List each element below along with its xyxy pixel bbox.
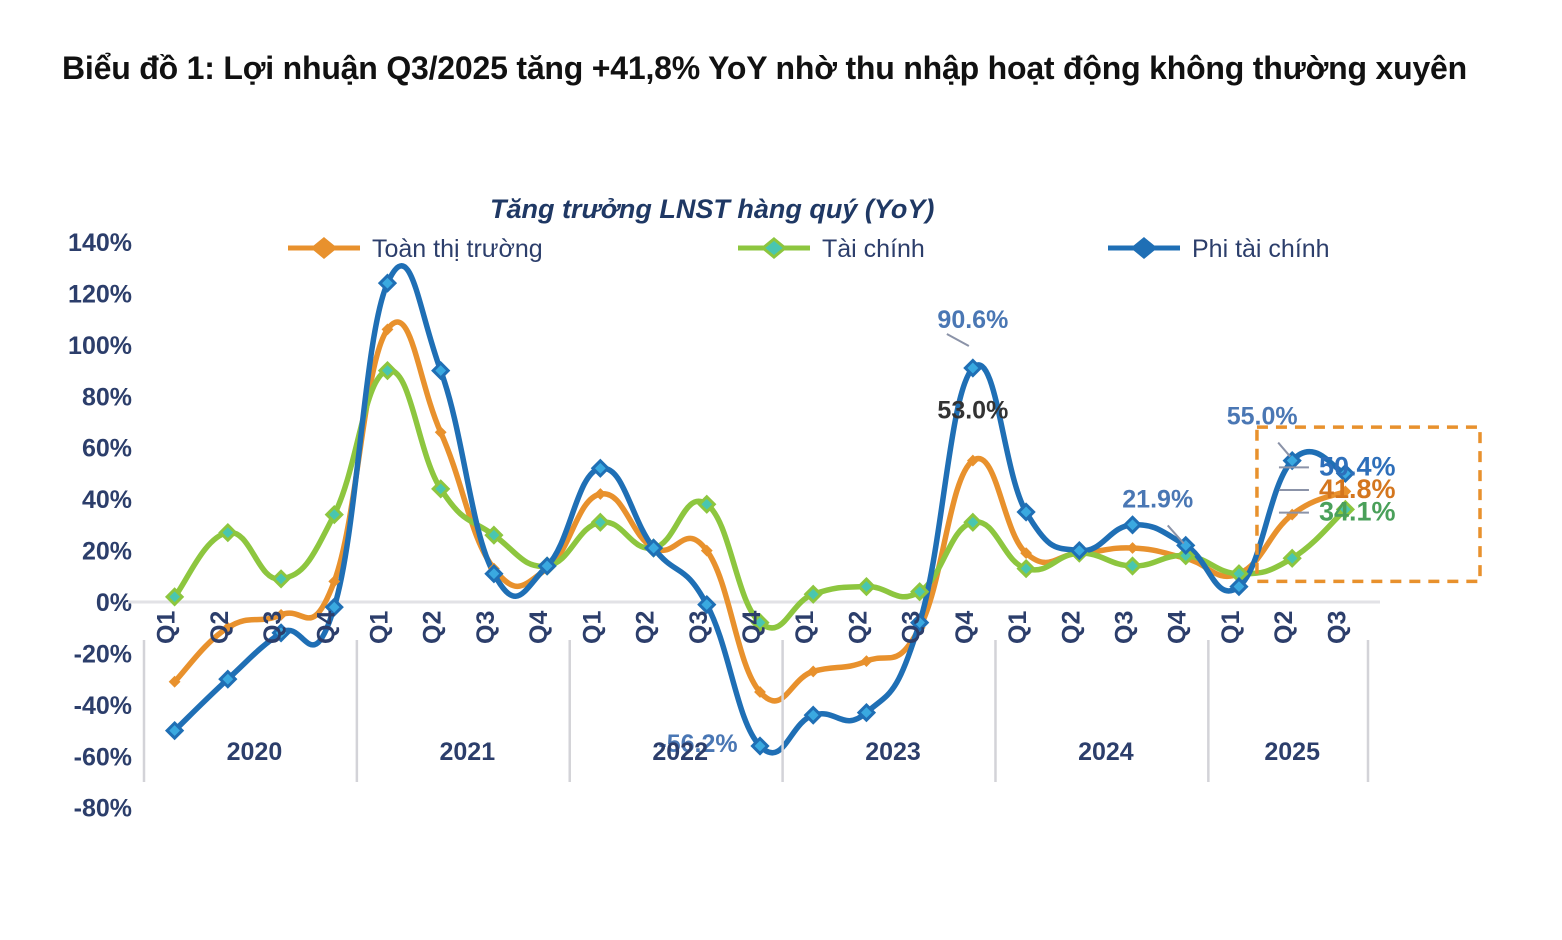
y-axis-tick-label: 60% bbox=[82, 435, 132, 463]
x-axis-quarter-label: Q3 bbox=[472, 611, 500, 644]
legend-label-3: Phi tài chính bbox=[1192, 235, 1330, 263]
x-axis-quarter-label: Q2 bbox=[206, 611, 234, 644]
x-axis-quarter-label: Q3 bbox=[898, 611, 926, 644]
data-point-marker bbox=[220, 525, 235, 540]
x-axis-quarter-label: Q1 bbox=[1217, 611, 1245, 644]
x-axis-quarter-label: Q4 bbox=[1164, 611, 1192, 644]
x-axis-quarter-label: Q4 bbox=[525, 611, 553, 644]
x-axis-quarter-label: Q1 bbox=[791, 611, 819, 644]
x-axis-quarter-label: Q1 bbox=[1004, 611, 1032, 644]
x-axis-quarter-label: Q4 bbox=[951, 611, 979, 644]
legend-label-1: Toàn thị trường bbox=[372, 235, 543, 263]
chart-annotation: 90.6% bbox=[937, 306, 1008, 334]
annotation-leader-line bbox=[1278, 443, 1290, 457]
data-point-marker bbox=[593, 515, 608, 530]
y-axis-tick-label: 0% bbox=[96, 589, 132, 617]
x-axis-quarter-label: Q4 bbox=[738, 611, 766, 644]
x-axis-year-label: 2025 bbox=[1264, 738, 1320, 766]
x-axis-quarter-label: Q1 bbox=[578, 611, 606, 644]
x-axis-quarter-label: Q2 bbox=[1057, 611, 1085, 644]
y-axis-tick-label: 100% bbox=[68, 332, 132, 360]
quarterly-profit-growth-chart: 140%120%100%80%60%40%20%0%-20%-40%-60%-8… bbox=[0, 170, 1562, 940]
legend-marker-1 bbox=[313, 239, 335, 257]
y-axis-tick-label: -40% bbox=[74, 692, 132, 720]
x-axis-year-label: 2023 bbox=[865, 738, 921, 766]
chart-container: 140%120%100%80%60%40%20%0%-20%-40%-60%-8… bbox=[0, 170, 1562, 940]
data-point-marker bbox=[1125, 559, 1140, 574]
y-axis-tick-label: 140% bbox=[68, 229, 132, 257]
y-axis-tick-label: -20% bbox=[74, 640, 132, 668]
x-axis-quarter-label: Q2 bbox=[419, 611, 447, 644]
y-axis-tick-label: 80% bbox=[82, 383, 132, 411]
chart-subtitle: Tăng trưởng LNST hàng quý (YoY) bbox=[490, 194, 934, 224]
x-axis-year-label: 2020 bbox=[227, 738, 283, 766]
x-axis-quarter-label: Q2 bbox=[844, 611, 872, 644]
data-point-marker bbox=[274, 571, 289, 586]
x-axis-year-label: 2022 bbox=[652, 738, 708, 766]
x-axis-quarter-label: Q1 bbox=[153, 611, 181, 644]
highlight-value-3: 34.1% bbox=[1319, 497, 1396, 527]
x-axis-year-label: 2021 bbox=[439, 738, 495, 766]
chart-annotation: 21.9% bbox=[1122, 485, 1193, 513]
x-axis-quarter-label: Q4 bbox=[312, 611, 340, 644]
legend-marker-2 bbox=[763, 239, 785, 257]
data-point-marker bbox=[433, 363, 448, 378]
data-point-marker bbox=[1125, 517, 1140, 532]
x-axis-quarter-label: Q3 bbox=[1111, 611, 1139, 644]
y-axis-tick-label: 40% bbox=[82, 486, 132, 514]
y-axis-tick-label: -80% bbox=[74, 795, 132, 823]
legend-label-2: Tài chính bbox=[822, 235, 925, 263]
x-axis-quarter-label: Q2 bbox=[632, 611, 660, 644]
page-title: Biểu đồ 1: Lợi nhuận Q3/2025 tăng +41,8%… bbox=[62, 46, 1492, 91]
data-point-marker bbox=[1128, 544, 1137, 553]
y-axis-tick-label: 120% bbox=[68, 280, 132, 308]
x-axis-year-label: 2024 bbox=[1078, 738, 1134, 766]
legend-marker-3 bbox=[1133, 239, 1155, 257]
y-axis-tick-label: -60% bbox=[74, 743, 132, 771]
x-axis-quarter-label: Q1 bbox=[365, 611, 393, 644]
x-axis-quarter-label: Q2 bbox=[1270, 611, 1298, 644]
x-axis-quarter-label: Q3 bbox=[1323, 611, 1351, 644]
x-axis-quarter-label: Q3 bbox=[685, 611, 713, 644]
y-axis-tick-label: 20% bbox=[82, 538, 132, 566]
annotation-leader-line bbox=[947, 334, 969, 346]
data-point-marker bbox=[859, 579, 874, 594]
x-axis-quarter-label: Q3 bbox=[259, 611, 287, 644]
chart-annotation: 53.0% bbox=[937, 397, 1008, 425]
